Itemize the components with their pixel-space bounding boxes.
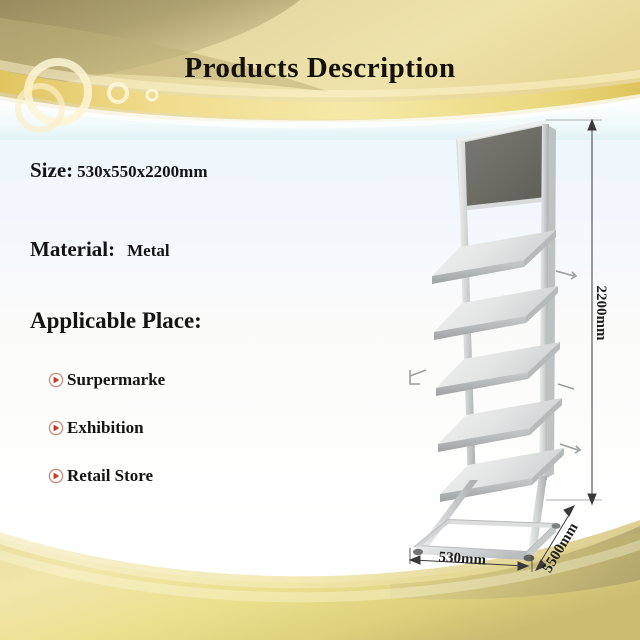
list-item: Surpermarke: [48, 370, 165, 390]
shelf: [432, 230, 556, 284]
dimension-height-label: 2200mm: [593, 286, 609, 341]
size-value: 530x550x2200mm: [77, 162, 207, 181]
material-row: Material: Metal: [30, 237, 170, 262]
metal-display-rack-illustration: 2200mm 530mm 5500mm: [396, 108, 640, 578]
arrow-circle-icon: [48, 372, 64, 388]
size-row: Size: 530x550x2200mm: [30, 158, 207, 183]
page-root: Products Description Size: 530x550x2200m…: [0, 0, 640, 640]
list-item-label: Exhibition: [67, 418, 144, 438]
product-image: 2200mm 530mm 5500mm: [396, 108, 640, 578]
arrow-circle-icon: [48, 420, 64, 436]
page-title: Products Description: [0, 52, 640, 85]
list-item: Retail Store: [48, 466, 153, 486]
list-item: Exhibition: [48, 418, 144, 438]
dimension-width-label: 530mm: [438, 549, 487, 568]
list-item-label: Retail Store: [67, 466, 153, 486]
rack-header-panel: [456, 120, 551, 211]
shelf: [434, 286, 558, 340]
material-label: Material:: [30, 237, 115, 261]
applicable-place-row: Applicable Place:: [30, 308, 202, 334]
material-value: Metal: [127, 241, 169, 260]
arrow-circle-icon: [48, 468, 64, 484]
size-label: Size:: [30, 158, 73, 182]
list-item-label: Surpermarke: [67, 370, 165, 390]
applicable-place-label: Applicable Place:: [30, 308, 202, 333]
